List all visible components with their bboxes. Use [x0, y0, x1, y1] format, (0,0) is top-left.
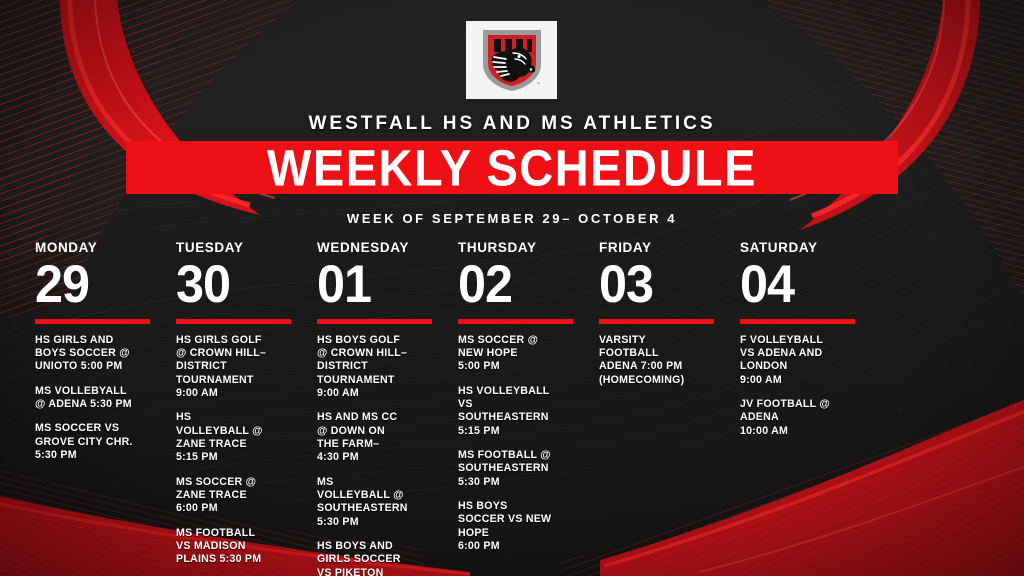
- event-item: HS VOLLEYBALL @ ZANE TRACE 5:15 PM: [176, 411, 298, 464]
- day-of-week-label: THURSDAY: [458, 241, 599, 255]
- day-of-week-label: SATURDAY: [740, 241, 881, 255]
- event-item: F VOLLEYBALL VS ADENA AND LONDON 9:00 AM: [740, 334, 862, 387]
- event-item: MS SOCCER VS GROVE CITY CHR. 5:30 PM: [35, 422, 157, 462]
- day-divider-rule: [35, 319, 150, 324]
- event-list: HS GIRLS AND BOYS SOCCER @ UNIOTO 5:00 P…: [35, 334, 176, 463]
- week-range-label: WEEK OF SEPTEMBER 29– OCTOBER 4: [0, 211, 1024, 226]
- schedule-grid: MONDAY29HS GIRLS AND BOYS SOCCER @ UNIOT…: [35, 241, 990, 561]
- event-item: MS VOLLEBYALL @ ADENA 5:30 PM: [35, 385, 157, 412]
- poster-content: ™ WESTFALL HS AND MS ATHLETICS WEEKLY SC…: [0, 0, 1024, 576]
- event-item: HS GIRLS GOLF @ CROWN HILL– DISTRICT TOU…: [176, 334, 298, 401]
- event-item: HS VOLLEYBALL VS SOUTHEASTERN 5:15 PM: [458, 385, 580, 438]
- event-list: F VOLLEYBALL VS ADENA AND LONDON 9:00 AM…: [740, 334, 881, 438]
- event-item: MS SOCCER @ ZANE TRACE 6:00 PM: [176, 476, 298, 516]
- day-divider-rule: [740, 319, 855, 324]
- event-item: JV FOOTBALL @ ADENA 10:00 AM: [740, 398, 862, 438]
- day-column-monday: MONDAY29HS GIRLS AND BOYS SOCCER @ UNIOT…: [35, 241, 176, 561]
- day-number: 02: [458, 258, 592, 312]
- day-column-tuesday: TUESDAY30HS GIRLS GOLF @ CROWN HILL– DIS…: [176, 241, 317, 561]
- day-number: 03: [599, 258, 733, 312]
- banner-title: WEEKLY SCHEDULE: [267, 142, 757, 193]
- event-item: MS SOCCER @ NEW HOPE 5:00 PM: [458, 334, 580, 374]
- day-column-friday: FRIDAY03VARSITY FOOTBALL ADENA 7:00 PM (…: [599, 241, 740, 561]
- day-number: 01: [317, 258, 451, 312]
- event-list: VARSITY FOOTBALL ADENA 7:00 PM (HOMECOMI…: [599, 334, 740, 387]
- day-of-week-label: WEDNESDAY: [317, 241, 458, 255]
- weekly-schedule-banner: WEEKLY SCHEDULE: [126, 141, 898, 194]
- event-item: MS FOOTBALL @ SOUTHEASTERN 5:30 PM: [458, 449, 580, 489]
- event-list: HS BOYS GOLF @ CROWN HILL– DISTRICT TOUR…: [317, 334, 458, 576]
- day-of-week-label: MONDAY: [35, 241, 176, 255]
- event-item: VARSITY FOOTBALL ADENA 7:00 PM (HOMECOMI…: [599, 334, 721, 387]
- westfall-mustang-shield-logo: ™: [466, 21, 557, 99]
- day-of-week-label: TUESDAY: [176, 241, 317, 255]
- day-of-week-label: FRIDAY: [599, 241, 740, 255]
- day-divider-rule: [599, 319, 714, 324]
- day-divider-rule: [458, 319, 573, 324]
- day-column-saturday: SATURDAY04F VOLLEYBALL VS ADENA AND LOND…: [740, 241, 881, 561]
- day-divider-rule: [317, 319, 432, 324]
- day-column-thursday: THURSDAY02MS SOCCER @ NEW HOPE 5:00 PMHS…: [458, 241, 599, 561]
- day-number: 30: [176, 258, 310, 312]
- event-list: HS GIRLS GOLF @ CROWN HILL– DISTRICT TOU…: [176, 334, 317, 567]
- organization-name: WESTFALL HS AND MS ATHLETICS: [0, 113, 1024, 135]
- day-divider-rule: [176, 319, 291, 324]
- event-item: HS BOYS GOLF @ CROWN HILL– DISTRICT TOUR…: [317, 334, 439, 401]
- day-number: 04: [740, 258, 874, 312]
- event-item: HS BOYS SOCCER VS NEW HOPE 6:00 PM: [458, 500, 580, 553]
- event-list: MS SOCCER @ NEW HOPE 5:00 PMHS VOLLEYBAL…: [458, 334, 599, 554]
- event-item: HS GIRLS AND BOYS SOCCER @ UNIOTO 5:00 P…: [35, 334, 157, 374]
- event-item: HS AND MS CC @ DOWN ON THE FARM– 4:30 PM: [317, 411, 439, 464]
- event-item: MS FOOTBALL VS MADISON PLAINS 5:30 PM: [176, 527, 298, 567]
- svg-text:™: ™: [536, 81, 540, 86]
- event-item: HS BOYS AND GIRLS SOCCER VS PIKETON 5:30…: [317, 540, 439, 576]
- event-item: MS VOLLEYBALL @ SOUTHEASTERN 5:30 PM: [317, 476, 439, 529]
- day-number: 29: [35, 258, 169, 312]
- day-column-wednesday: WEDNESDAY01HS BOYS GOLF @ CROWN HILL– DI…: [317, 241, 458, 561]
